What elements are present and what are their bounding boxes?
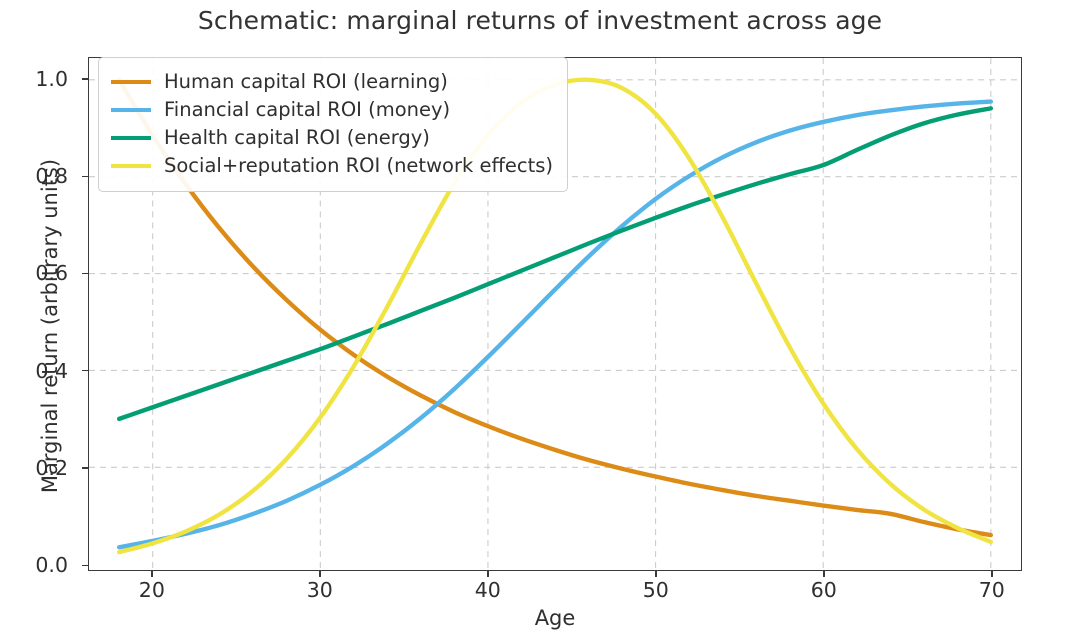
x-tickmark — [487, 571, 488, 577]
legend-item[interactable]: Social+reputation ROI (network effects) — [111, 152, 553, 180]
x-tick-label: 20 — [107, 578, 197, 602]
legend-item[interactable]: Financial capital ROI (money) — [111, 96, 553, 124]
x-tick-label: 30 — [275, 578, 365, 602]
x-tickmark — [991, 571, 992, 577]
legend-color-swatch — [111, 136, 151, 140]
chart-figure: Schematic: marginal returns of investmen… — [0, 0, 1080, 643]
x-tickmark — [319, 571, 320, 577]
x-tick-label: 70 — [947, 578, 1037, 602]
legend-item[interactable]: Health capital ROI (energy) — [111, 124, 553, 152]
chart-title: Schematic: marginal returns of investmen… — [0, 6, 1080, 35]
chart-legend: Human capital ROI (learning)Financial ca… — [98, 57, 568, 192]
legend-color-swatch — [111, 80, 151, 84]
legend-item-label: Health capital ROI (energy) — [164, 128, 430, 148]
x-tickmark — [655, 571, 656, 577]
x-tick-label: 40 — [443, 578, 533, 602]
x-tick-label: 50 — [611, 578, 701, 602]
y-axis-title: Marginal return (arbitrary units) — [38, 66, 62, 586]
x-tick-label: 60 — [779, 578, 869, 602]
legend-item[interactable]: Human capital ROI (learning) — [111, 68, 553, 96]
x-tickmark — [151, 571, 152, 577]
x-tickmark — [823, 571, 824, 577]
x-axis-title: Age — [88, 606, 1022, 630]
legend-item-label: Social+reputation ROI (network effects) — [164, 156, 553, 176]
legend-item-label: Financial capital ROI (money) — [164, 100, 450, 120]
legend-color-swatch — [111, 108, 151, 112]
legend-color-swatch — [111, 164, 151, 168]
legend-item-label: Human capital ROI (learning) — [164, 72, 448, 92]
